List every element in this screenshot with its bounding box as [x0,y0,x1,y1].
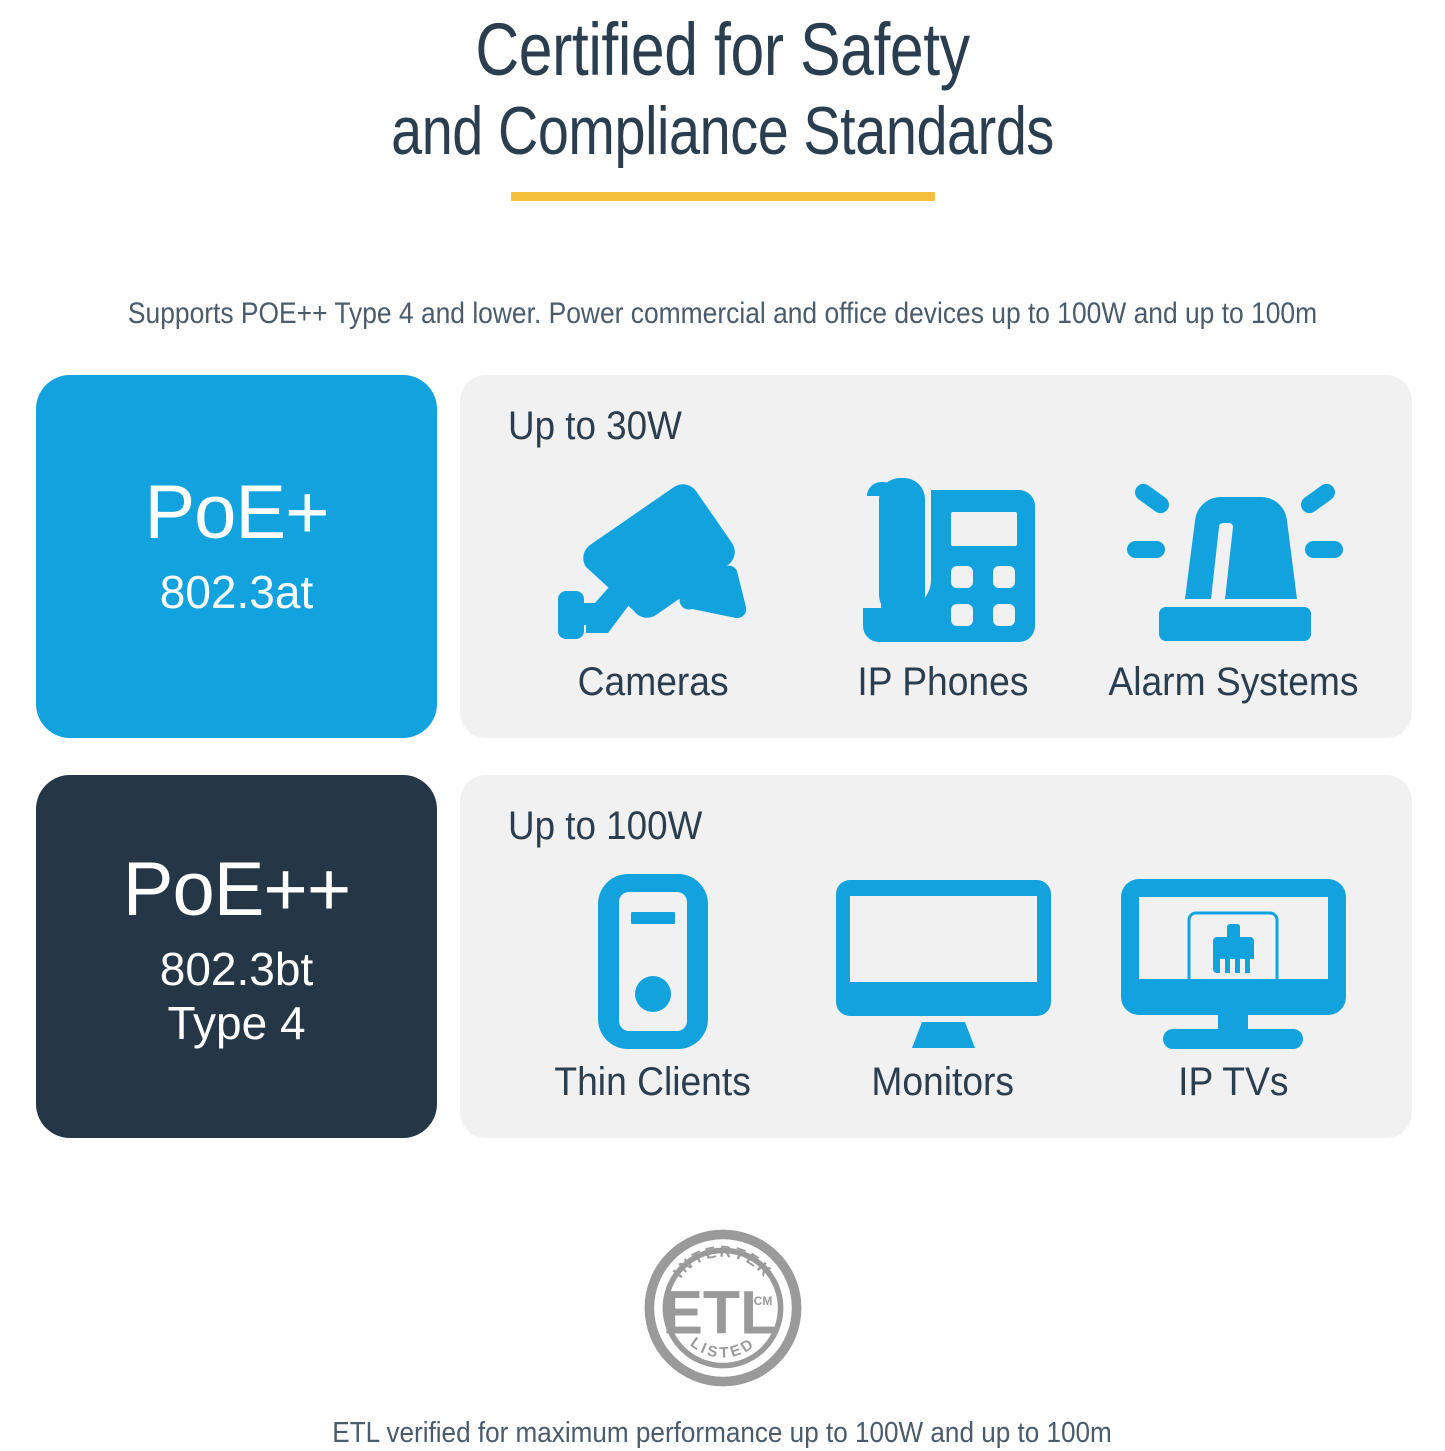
device-label-thin-clients: Thin Clients [555,1059,751,1105]
security-camera-icon [546,471,761,651]
page-title-line-2: and Compliance Standards [130,92,1315,170]
poe-plus-plus-standard-line-2: Type 4 [160,996,313,1050]
poe-plus-plus-power-label: Up to 100W [508,803,1308,849]
thin-client-icon [598,871,708,1051]
page-title-line-1: Certified for Safety [130,8,1315,92]
certification-section: INTERTEK LISTED ETL CM ETL verified for … [0,1228,1445,1451]
certification-caption: ETL verified for maximum performance up … [333,1415,1112,1451]
poe-plus-plus-row: PoE++ 802.3bt Type 4 Up to 100W [36,775,1412,1138]
device-label-cameras: Cameras [578,659,729,705]
device-item-alarm-systems: Alarm Systems [1088,471,1378,705]
poe-plus-plus-badge-standard: 802.3bt Type 4 [160,942,313,1050]
poe-plus-device-panel: Up to 30W Cameras [460,375,1412,738]
device-item-thin-clients: Thin Clients [508,871,798,1105]
poe-plus-plus-badge-title: PoE++ [123,850,350,930]
poe-plus-plus-device-panel: Up to 100W Thin Clients [460,775,1412,1138]
device-item-ip-phones: IP Phones [798,471,1088,705]
poe-plus-badge-title: PoE+ [144,473,328,553]
device-item-cameras: Cameras [508,471,798,705]
poe-plus-badge-card: PoE+ 802.3at [36,375,437,738]
subtitle-text: Supports POE++ Type 4 and lower. Power c… [87,296,1359,332]
device-item-ip-tvs: IP TVs [1088,871,1378,1105]
etl-logo-cm-mark: CM [753,1294,772,1308]
poe-plus-badge-standard: 802.3at [160,565,313,619]
poe-plus-device-list: Cameras [508,455,1378,705]
poe-plus-plus-device-list: Thin Clients Monitors [508,855,1378,1105]
ip-phone-icon [843,471,1043,651]
monitor-icon [836,871,1051,1051]
title-underline-wrap [0,192,1445,201]
device-label-ip-tvs: IP TVs [1178,1059,1288,1105]
ip-tv-icon [1121,871,1346,1051]
poe-plus-plus-badge-card: PoE++ 802.3bt Type 4 [36,775,437,1138]
page-header: Certified for Safety and Compliance Stan… [0,0,1445,201]
etl-logo-main-text: ETL [662,1279,777,1347]
poe-plus-plus-standard-line-1: 802.3bt [160,942,313,996]
device-label-alarm-systems: Alarm Systems [1108,659,1358,705]
poe-plus-power-label: Up to 30W [508,403,1308,449]
device-label-monitors: Monitors [872,1059,1015,1105]
poe-plus-row: PoE+ 802.3at Up to 30W [36,375,1412,738]
device-label-ip-phones: IP Phones [857,659,1028,705]
alarm-siren-icon [1113,471,1353,651]
title-underline-accent [511,192,935,201]
etl-listed-logo: INTERTEK LISTED ETL CM [643,1228,803,1393]
device-item-monitors: Monitors [798,871,1088,1105]
